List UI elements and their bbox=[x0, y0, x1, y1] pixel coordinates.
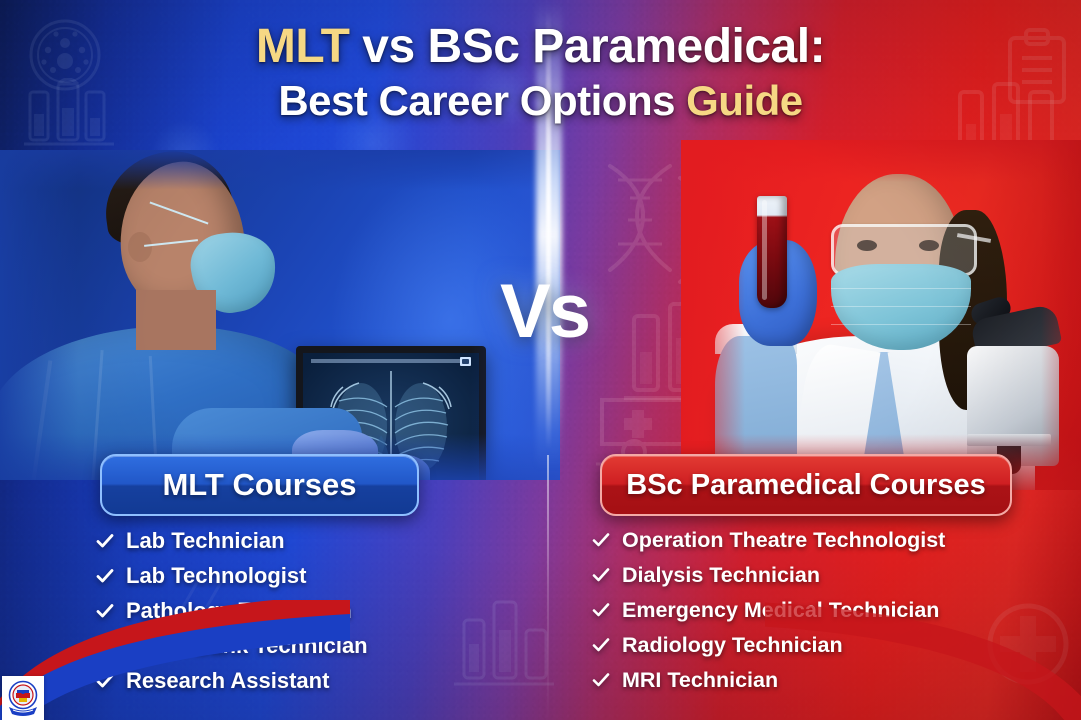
check-icon bbox=[96, 532, 114, 550]
list-item-label: Dialysis Technician bbox=[622, 563, 820, 588]
corner-swoosh-bottom-right bbox=[765, 600, 1081, 720]
badge-bsc-label: BSc Paramedical Courses bbox=[626, 469, 985, 502]
list-item: Lab Technologist bbox=[96, 563, 368, 589]
badge-mlt-courses[interactable]: MLT Courses bbox=[100, 454, 419, 516]
infographic-poster: MLT vs BSc Paramedical: Best Career Opti… bbox=[0, 0, 1081, 720]
list-item-label: Operation Theatre Technologist bbox=[622, 528, 945, 553]
list-item-label: Lab Technologist bbox=[126, 563, 306, 589]
check-icon bbox=[592, 566, 610, 584]
check-icon bbox=[592, 636, 610, 654]
list-item-label: MRI Technician bbox=[622, 668, 778, 693]
check-icon bbox=[592, 531, 610, 549]
list-item: Dialysis Technician bbox=[592, 563, 945, 588]
check-icon bbox=[96, 567, 114, 585]
badge-mlt-label: MLT Courses bbox=[162, 467, 356, 503]
check-icon bbox=[592, 671, 610, 689]
corner-swoosh-bottom-left bbox=[0, 600, 350, 720]
institute-crest-logo[interactable] bbox=[2, 676, 44, 720]
crest-icon bbox=[5, 679, 41, 717]
list-item: Operation Theatre Technologist bbox=[592, 528, 945, 553]
badge-bsc-paramedical-courses[interactable]: BSc Paramedical Courses bbox=[600, 454, 1012, 516]
vs-label: Vs bbox=[500, 268, 589, 355]
list-item-label: Lab Technician bbox=[126, 528, 285, 554]
list-item: Lab Technician bbox=[96, 528, 368, 554]
check-icon bbox=[592, 601, 610, 619]
